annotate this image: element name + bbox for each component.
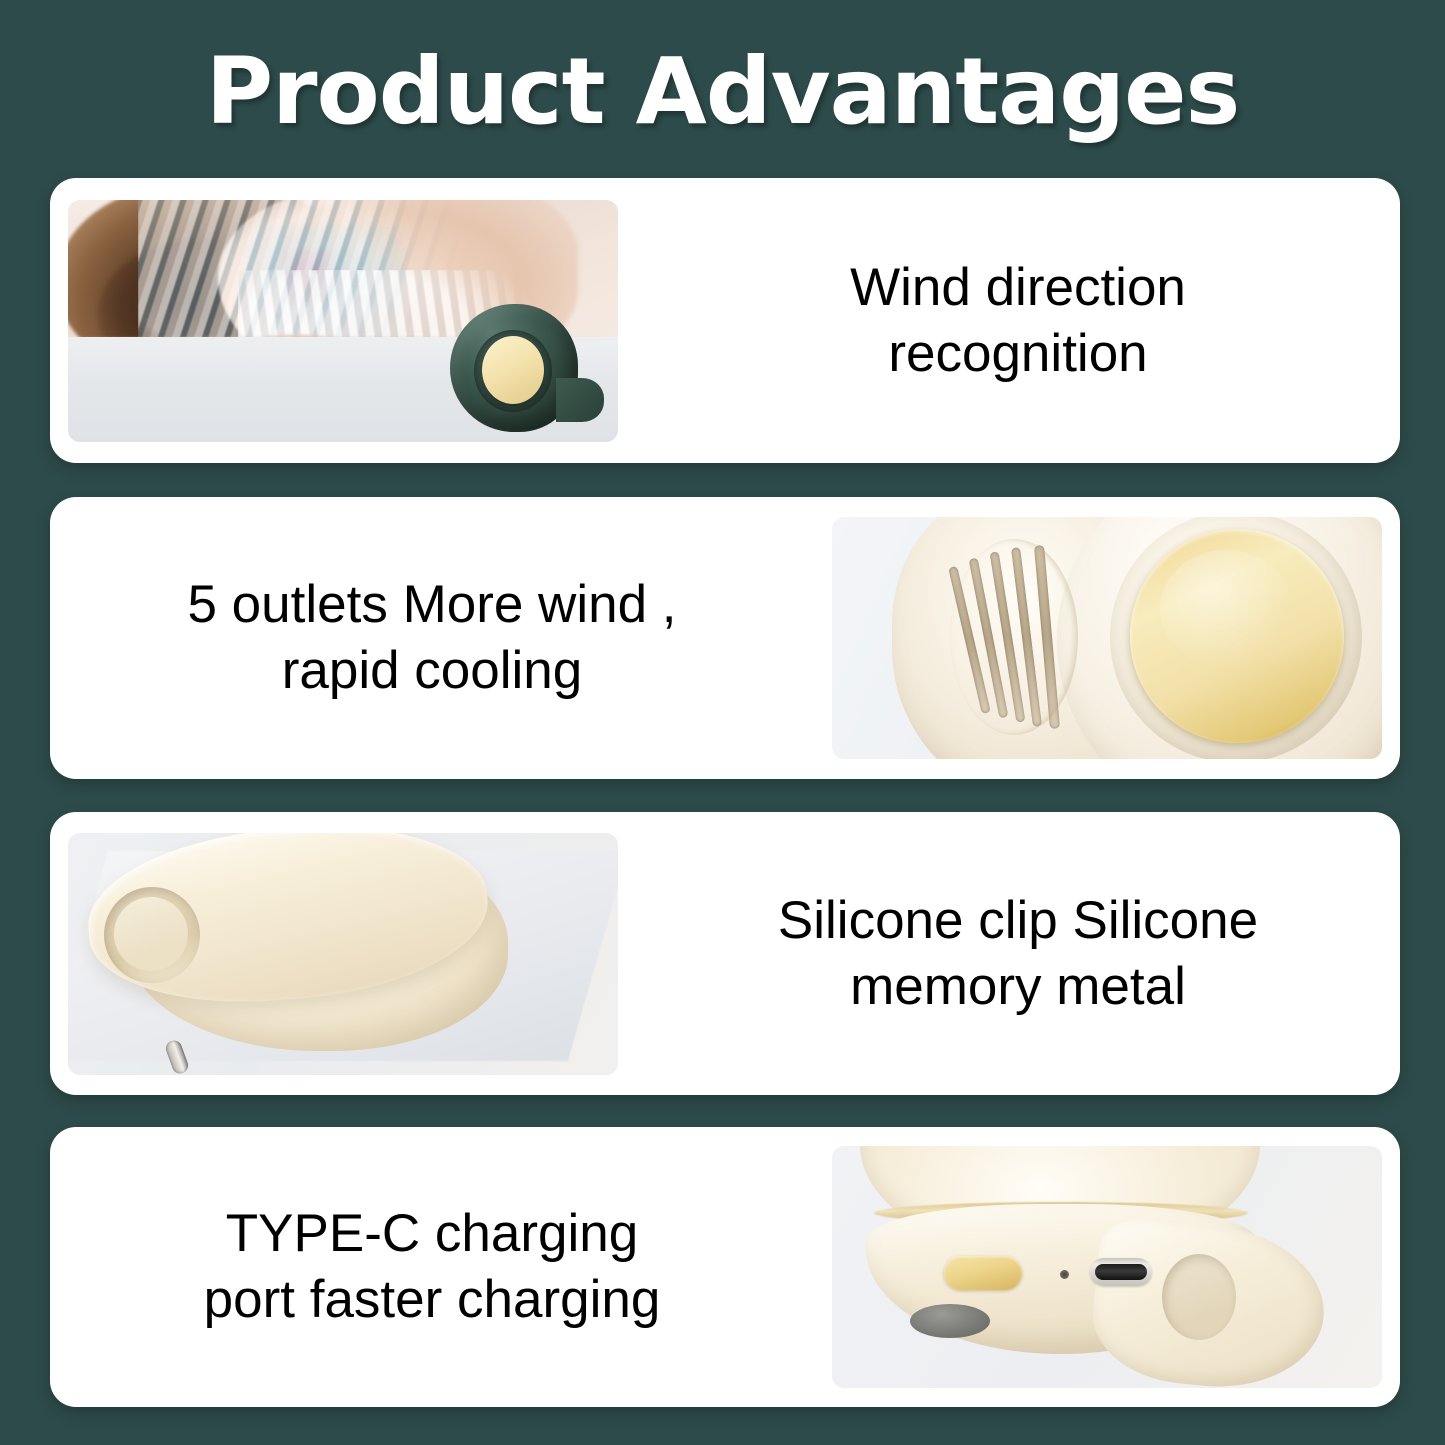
advantage-card-type-c-charging-port: TYPE-C charging port faster charging [50, 1127, 1400, 1407]
cream-silicone-clip-band-photo [68, 833, 618, 1075]
advantage-card-silicone-clip-memory-metal: Silicone clip Silicone memory metal [50, 812, 1400, 1095]
caption-line-1: TYPE-C charging [66, 1201, 798, 1267]
caption-line-2: memory metal [652, 954, 1384, 1020]
advantage-caption: 5 outlets More wind , rapid cooling [50, 572, 814, 704]
caption-line-2: recognition [652, 321, 1384, 387]
advantage-caption: Silicone clip Silicone memory metal [636, 888, 1400, 1020]
woman-resting-with-hand-fan-and-green-neck-fan-photo [68, 200, 618, 442]
advantage-card-five-outlets-more-wind: 5 outlets More wind , rapid cooling [50, 497, 1400, 779]
green-neck-fan-shape [450, 304, 600, 434]
neck-fan-arm-shape [556, 378, 604, 422]
silicone-strap-opening-shape [1162, 1254, 1236, 1340]
fan-base-with-gold-button-led-and-usb-c-port-photo [832, 1146, 1382, 1388]
caption-line-1: 5 outlets More wind , [66, 572, 798, 638]
caption-line-1: Wind direction [652, 255, 1384, 321]
caption-line-1: Silicone clip Silicone [652, 888, 1384, 954]
advantage-caption: TYPE-C charging port faster charging [50, 1201, 814, 1333]
page-title: Product Advantages [0, 40, 1445, 144]
rubber-foot-shape [910, 1304, 990, 1338]
product-advantages-page: Product Advantages Wind direction recog [0, 0, 1445, 1445]
caption-line-2: rapid cooling [66, 638, 798, 704]
neck-fan-gold-disc-shape [482, 336, 544, 404]
caption-line-2: port faster charging [66, 1267, 798, 1333]
advantage-card-wind-direction-recognition: Wind direction recognition [50, 178, 1400, 463]
led-indicator-shape [1060, 1270, 1069, 1279]
gold-disc-shape [1130, 529, 1344, 743]
fan-vent-slots-and-gold-disc-closeup-photo [832, 517, 1382, 759]
clip-opening-inner-shape [114, 897, 188, 971]
usb-c-charging-port-shape [1090, 1258, 1152, 1286]
advantage-caption: Wind direction recognition [636, 255, 1400, 387]
gold-power-button-shape [944, 1256, 1022, 1290]
